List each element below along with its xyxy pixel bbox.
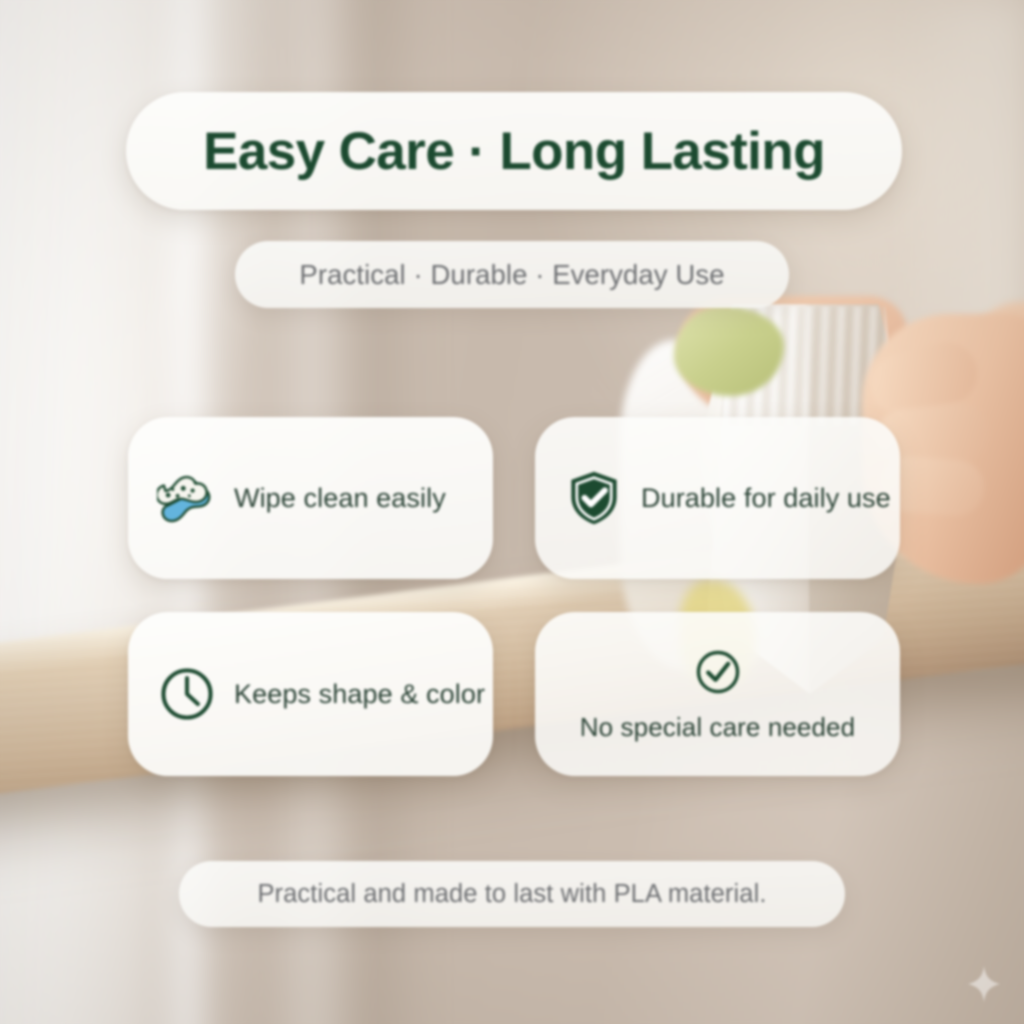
page-subtitle: Practical · Durable · Everyday Use: [299, 259, 724, 291]
feature-card-no-special-care[interactable]: No special care needed: [535, 612, 900, 776]
title-pill: Easy Care · Long Lasting: [126, 92, 902, 210]
check-circle-icon: [692, 646, 744, 698]
feature-card-wipe-clean[interactable]: Wipe clean easily: [128, 417, 493, 579]
promo-graphic: Easy Care · Long Lasting Practical · Dur…: [0, 0, 1024, 1024]
footer-pill: Practical and made to last with PLA mate…: [179, 861, 845, 927]
page-title: Easy Care · Long Lasting: [203, 121, 825, 182]
feature-label: Wipe clean easily: [234, 483, 446, 514]
feature-label: Keeps shape & color: [234, 679, 485, 710]
feature-label: Durable for daily use: [641, 483, 891, 514]
sponge-icon: [154, 465, 220, 531]
clock-icon: [154, 661, 220, 727]
feature-card-durable[interactable]: Durable for daily use: [535, 417, 900, 579]
content-overlay: Easy Care · Long Lasting Practical · Dur…: [0, 0, 1024, 1024]
feature-card-keeps-shape[interactable]: Keeps shape & color: [128, 612, 493, 776]
sparkle-icon: [964, 964, 1004, 1004]
subtitle-pill: Practical · Durable · Everyday Use: [235, 241, 789, 308]
shield-check-icon: [561, 465, 627, 531]
footer-note: Practical and made to last with PLA mate…: [257, 880, 766, 909]
feature-label: No special care needed: [580, 712, 855, 743]
